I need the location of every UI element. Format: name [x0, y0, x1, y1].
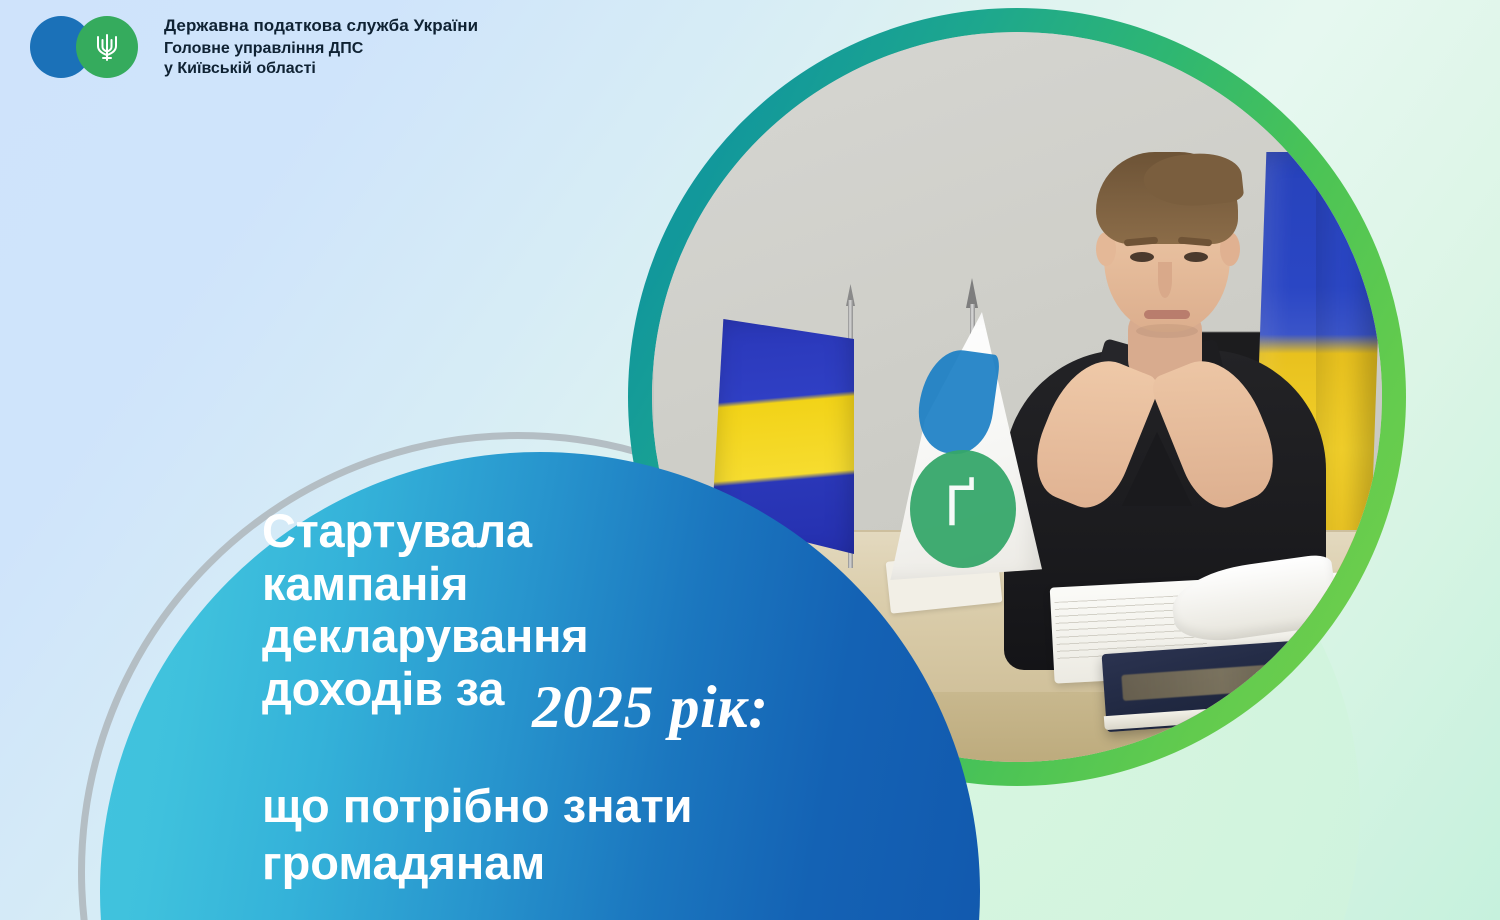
headline-year-phrase: 2025 рік:	[532, 677, 769, 737]
person-nose	[1158, 262, 1172, 298]
person-mouth	[1144, 310, 1190, 319]
org-name: Державна податкова служба України	[164, 16, 478, 36]
person-eye-left	[1130, 252, 1154, 262]
logo-green-circle	[76, 16, 138, 78]
person-chin-shadow	[1136, 324, 1198, 338]
branding-header: Державна податкова служба України Головн…	[30, 16, 478, 78]
trident-icon: Ґ	[944, 480, 977, 534]
org-unit: Головне управління ДПС у Київській облас…	[164, 39, 478, 78]
branding-text: Державна податкова служба України Головн…	[142, 16, 478, 78]
person-eye-right	[1184, 252, 1208, 262]
headline-wrap: Стартувала кампанія декларування доходів…	[262, 505, 882, 716]
headline-line-2: що потрібно знати громадянам	[262, 777, 862, 892]
trident-icon	[94, 31, 120, 63]
headline: Стартувала кампанія декларування доходів…	[262, 505, 882, 716]
poster-canvas: Ґ	[0, 0, 1500, 920]
dps-logo	[30, 16, 126, 78]
